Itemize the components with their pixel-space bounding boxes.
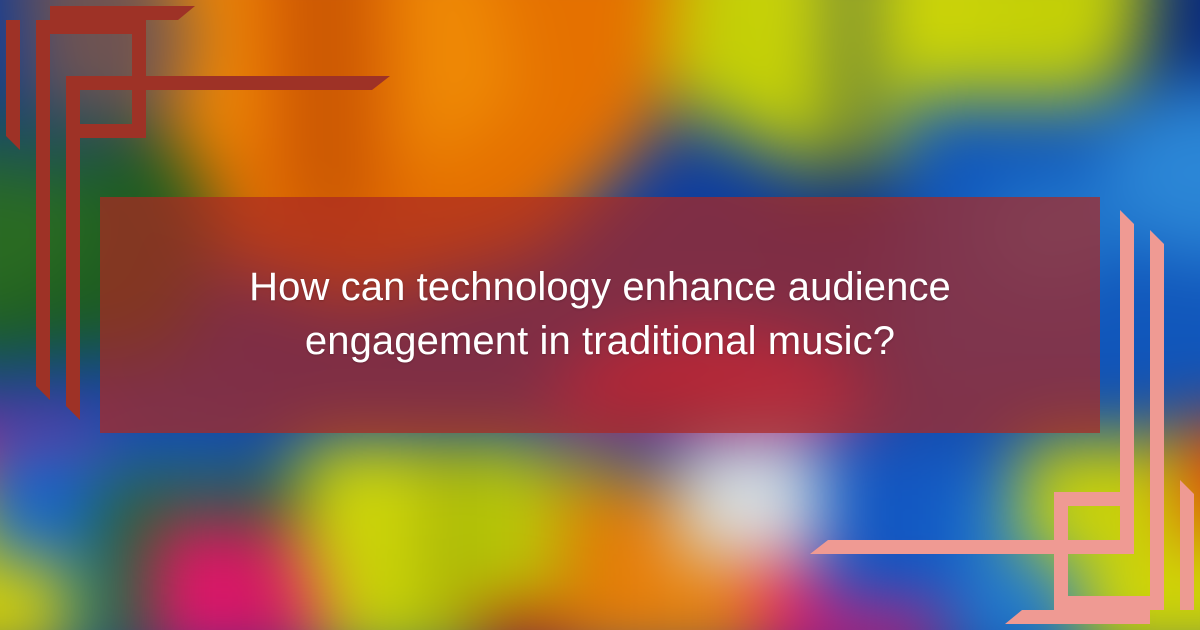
page-title: How can technology enhance audience enga… [220, 261, 980, 368]
title-overlay-card: How can technology enhance audience enga… [100, 197, 1100, 433]
share-card-canvas: How can technology enhance audience enga… [0, 0, 1200, 630]
